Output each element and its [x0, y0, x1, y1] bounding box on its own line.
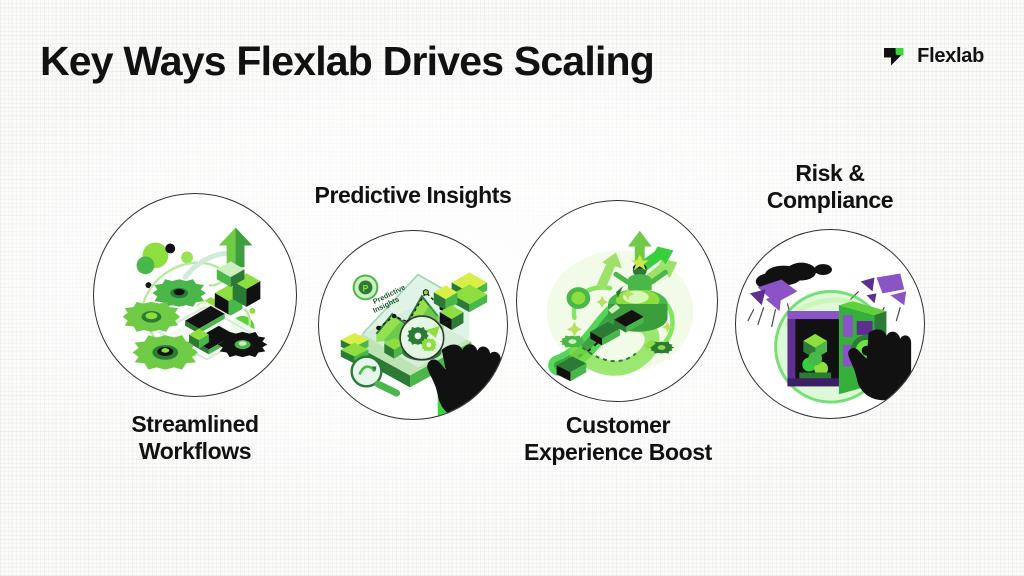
- feature-card-streamlined-workflows[interactable]: Streamlined Workflows: [93, 193, 297, 473]
- svg-text:P: P: [363, 283, 369, 293]
- feature-label-streamlined-workflows: Streamlined Workflows: [79, 411, 311, 464]
- illustration-circle-risk-compliance: [735, 229, 925, 419]
- feature-card-customer-experience-boost[interactable]: Customer Experience Boost: [516, 200, 718, 475]
- page-title: Key Ways Flexlab Drives Scaling: [40, 38, 654, 85]
- isometric-vault-with-shield-bubble-illustration: [736, 230, 924, 418]
- feature-card-predictive-insights[interactable]: Predictive Insights: [318, 182, 508, 424]
- isometric-gears-and-growth-bars-illustration: [94, 194, 296, 396]
- flexlab-flag-mark-icon: [882, 43, 908, 69]
- feature-label-risk-compliance: Risk & Compliance: [730, 160, 930, 213]
- illustration-circle-streamlined-workflows: [93, 193, 297, 397]
- feature-label-predictive-insights: Predictive Insights: [293, 182, 533, 209]
- brand-logo: Flexlab: [882, 43, 984, 69]
- isometric-journey-path-with-arrows-illustration: [517, 201, 717, 401]
- feature-label-customer-experience-boost: Customer Experience Boost: [500, 412, 736, 465]
- feature-card-risk-compliance[interactable]: Risk & Compliance: [735, 160, 925, 420]
- illustration-circle-predictive-insights: Predictive Insights P: [318, 230, 508, 420]
- isometric-dashboard-with-hand-and-charts-illustration: Predictive Insights P: [319, 231, 507, 419]
- slide-canvas: Key Ways Flexlab Drives Scaling Flexlab: [0, 0, 1024, 576]
- illustration-circle-customer-experience-boost: [516, 200, 718, 402]
- brand-name: Flexlab: [917, 45, 984, 68]
